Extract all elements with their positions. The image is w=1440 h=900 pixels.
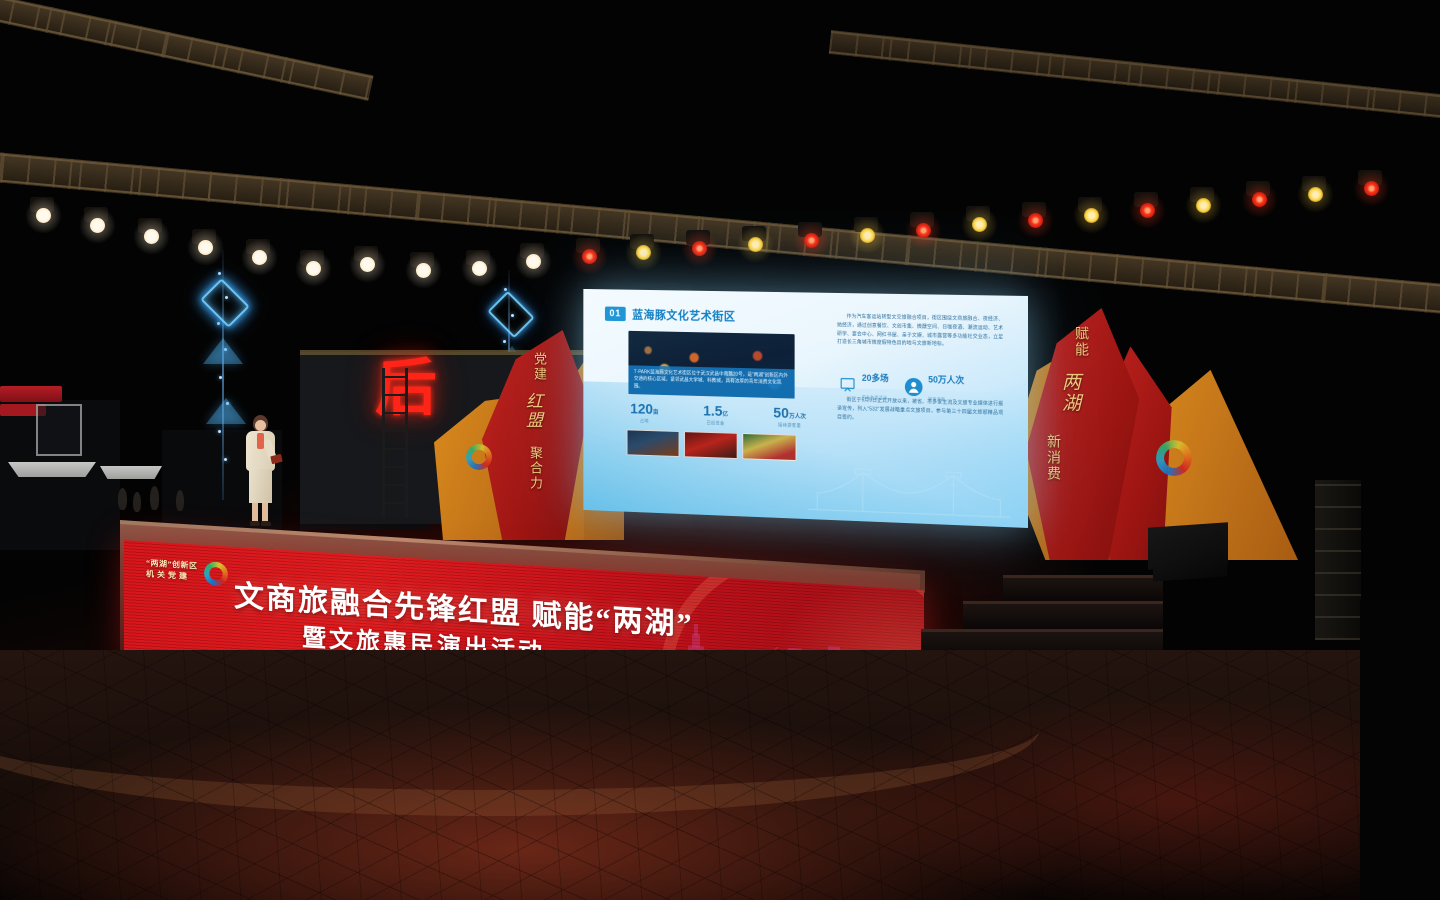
banner-logo-block: “两湖”创新区 机 关 党 建 [146, 557, 228, 586]
slide-paragraph-2: 街区于5月9日正式开放以来，被省、市多家主流及文旅专业媒体进行报道宣传，列入“5… [837, 396, 1003, 427]
slide-thumbnail [742, 433, 796, 461]
stage-speaker-monitor [1153, 550, 1227, 581]
slide-thumbnail [627, 429, 680, 457]
presenter-shoe [250, 521, 260, 526]
par-lamp-amber [748, 237, 763, 252]
sculpture-right-line-2: 两湖 [1056, 372, 1083, 414]
slide-kpi: 120亩 占地 [630, 402, 658, 425]
par-lamp-amber [1308, 187, 1323, 202]
party-emblem-icon [204, 561, 228, 587]
slide-number-badge: 01 [605, 306, 626, 321]
foreground-dark-mass [1360, 600, 1440, 900]
kpi-unit: 亿 [722, 412, 728, 418]
par-lamp-white [36, 208, 51, 223]
par-lamp-amber [636, 245, 651, 260]
par-lamp-white [360, 257, 375, 272]
par-lamp-white [90, 218, 105, 233]
par-lamp-white [252, 250, 267, 265]
slide-header: 01 蓝海豚文化艺术街区 [605, 306, 735, 325]
kpi-unit: 亩 [653, 410, 658, 416]
stat-value: 20多场 [862, 373, 889, 384]
two-lakes-emblem-icon [466, 444, 492, 470]
truss-tower-right [1315, 480, 1361, 640]
par-lamp-red [804, 233, 819, 248]
stall-awning-1 [8, 462, 96, 477]
slide-kpi: 50万人次 接待游客量 [773, 406, 806, 429]
presenter-figure [240, 415, 282, 527]
stall-awning-2 [100, 466, 162, 479]
par-lamp-white [144, 229, 159, 244]
sculpture-left-line-1: 党建 [530, 352, 549, 382]
slide-paragraph-1: 作为汽车客运站转型文交旅融合项目，街区围绕文商旅融合、夜经济、她经济，通过创意餐… [837, 313, 1003, 351]
step [1003, 575, 1163, 601]
presentation-board-icon [838, 375, 857, 395]
presenter-leg [262, 503, 268, 523]
par-lamp-amber [860, 228, 875, 243]
crowd-silhouette [150, 486, 159, 510]
stage-scene: 后 党建 红盟 聚合力 赋能 两湖 新消费 [0, 0, 1440, 900]
sculpture-right-line-1: 赋能 [1070, 326, 1090, 358]
stage-led-screen[interactable]: 01 蓝海豚文化艺术街区 T·PARK蓝海豚文化艺术街区位于武汉武昌中南路20号… [583, 289, 1028, 528]
kpi-unit: 万人次 [789, 414, 806, 420]
step [963, 601, 1163, 629]
sculpture-left-line-3: 聚合力 [526, 446, 545, 491]
slide-title: 蓝海豚文化艺术街区 [632, 306, 735, 324]
kpi-label: 占地 [630, 418, 658, 425]
presenter-shoe [261, 521, 271, 526]
kpi-label: 已投资金 [703, 420, 728, 427]
par-lamp-red [1252, 192, 1267, 207]
crowd-silhouette [118, 488, 127, 510]
par-lamp-red [692, 241, 707, 256]
par-lamp-red [582, 249, 597, 264]
sculpture-left-line-2: 红盟 [520, 392, 545, 430]
background-kiosk [36, 404, 82, 456]
par-lamp-amber [972, 217, 987, 232]
bridge-outline-graphic [808, 453, 1010, 522]
crowd-silhouette [176, 490, 184, 511]
stat-value: 50万人次 [928, 375, 964, 386]
person-check-icon [904, 377, 923, 397]
par-lamp-white [526, 254, 541, 269]
sculpture-right-line-3: 新消费 [1042, 434, 1062, 482]
par-lamp-amber [1196, 198, 1211, 213]
neon-triangle-icon [203, 338, 243, 364]
presenter-leg [252, 503, 258, 523]
par-lamp-white [416, 263, 431, 278]
plaza-pavement [0, 650, 1440, 900]
par-lamp-amber [1084, 208, 1099, 223]
par-lamp-white [306, 261, 321, 276]
kpi-value: 50 [773, 405, 789, 422]
maintenance-ladder [382, 368, 408, 518]
par-lamp-red [916, 223, 931, 238]
slide-kpi: 1.5亿 已投资金 [703, 404, 728, 427]
stage-sculpture-right: 赋能 两湖 新消费 [1008, 300, 1298, 560]
kpi-value: 1.5 [703, 403, 722, 420]
slide-hero-caption: T·PARK蓝海豚文化艺术街区位于武汉武昌中南路20号，是“两湖”创新区内外交通… [628, 365, 794, 399]
background-shop-sign [0, 386, 62, 402]
par-lamp-red [1140, 203, 1155, 218]
kpi-label: 接待游客量 [773, 422, 806, 429]
pavement-stone-texture [0, 650, 1440, 900]
par-lamp-red [1028, 213, 1043, 228]
par-lamp-white [198, 240, 213, 255]
kpi-value: 120 [630, 401, 653, 418]
crowd-silhouette [133, 492, 141, 512]
presenter-cue-card [270, 454, 283, 464]
slide-thumbnail [684, 431, 738, 459]
par-lamp-white [472, 261, 487, 276]
par-lamp-red [1364, 181, 1379, 196]
presenter-face [255, 420, 266, 431]
presenter-skirt [249, 469, 272, 503]
slide-hero-photo: T·PARK蓝海豚文化艺术街区位于武汉武昌中南路20号，是“两湖”创新区内外交通… [628, 331, 794, 399]
two-lakes-emblem-icon [1156, 440, 1192, 476]
